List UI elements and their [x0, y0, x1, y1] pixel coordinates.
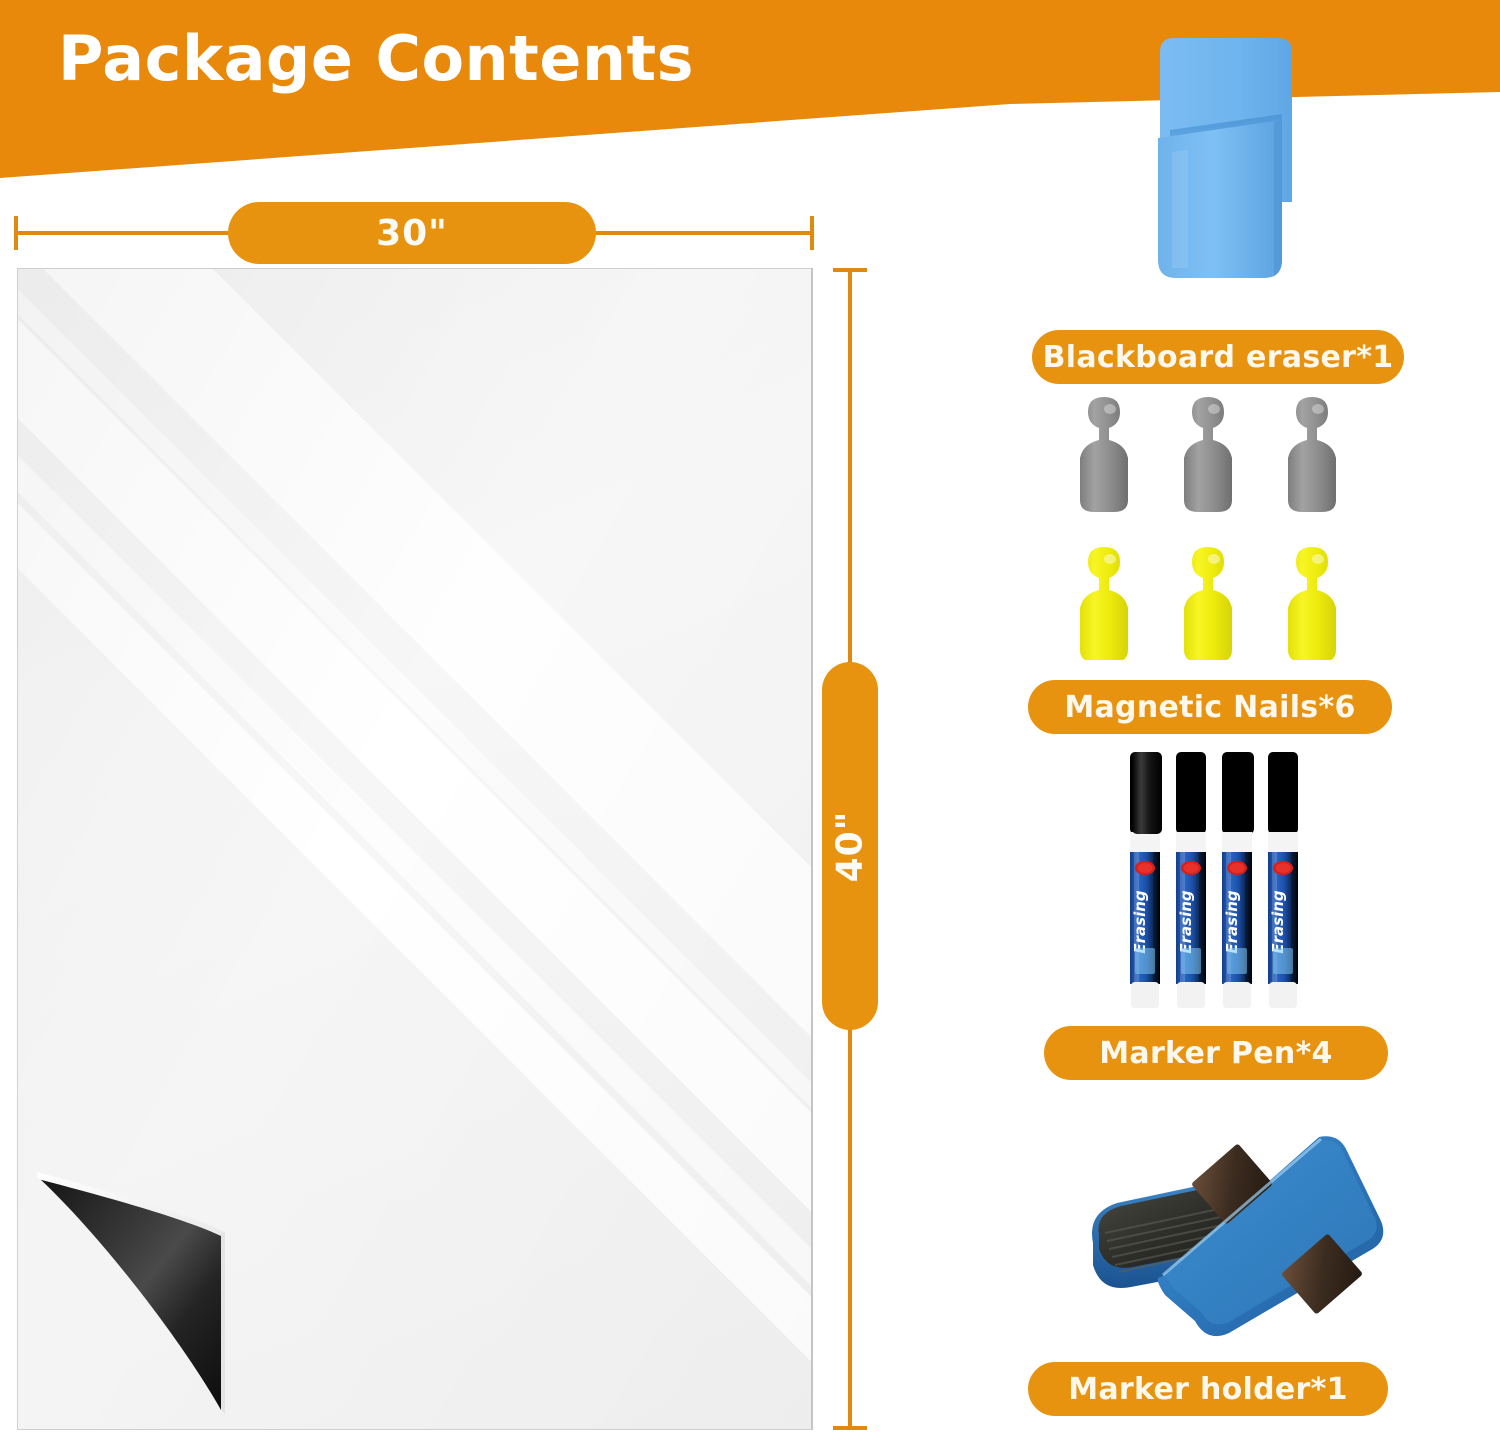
- marker-pen-black: [1130, 752, 1162, 1008]
- height-value: 40": [830, 810, 871, 882]
- dimension-endcap-right: [810, 216, 814, 250]
- marker-pen-blue: [1268, 752, 1298, 1008]
- magnetic-nail-yellow: [1184, 547, 1232, 660]
- dimension-endcap-left: [14, 216, 18, 250]
- dimension-endcap-top: [833, 268, 867, 272]
- label-magnetic-nails: Magnetic Nails*6: [1028, 680, 1392, 734]
- height-dimension-label: 40": [822, 662, 878, 1030]
- marker-pens-group: Erasing: [1128, 752, 1298, 1010]
- eraser-icon: [1075, 1135, 1395, 1345]
- magnetic-nail-gray: [1288, 397, 1336, 512]
- magnetic-nails-group: [1070, 395, 1350, 660]
- whiteboard-sheet: [17, 268, 813, 1430]
- width-value: 30": [376, 213, 448, 254]
- label-blackboard-eraser: Blackboard eraser*1: [1032, 330, 1404, 384]
- label-marker-holder: Marker holder*1: [1028, 1362, 1388, 1416]
- magnetic-nail-gray: [1184, 397, 1232, 512]
- label-marker-pen: Marker Pen*4: [1044, 1026, 1388, 1080]
- marker-holder-icon: [1148, 34, 1320, 296]
- magnetic-nail-gray: [1080, 397, 1128, 512]
- page-title: Package Contents: [58, 28, 694, 90]
- magnetic-nail-yellow: [1080, 547, 1128, 660]
- magnetic-nail-yellow: [1288, 547, 1336, 660]
- package-contents-infographic: Package Contents: [0, 0, 1500, 1430]
- dimension-endcap-bottom: [833, 1426, 867, 1430]
- width-dimension-label: 30": [228, 202, 596, 264]
- curled-corner-magnetic-backing: [35, 1170, 315, 1432]
